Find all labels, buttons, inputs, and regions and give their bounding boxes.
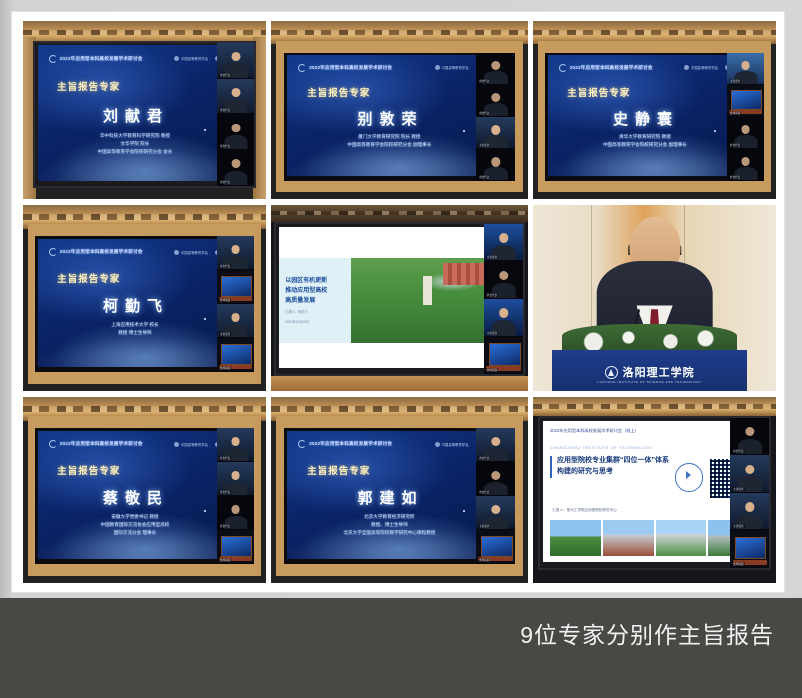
video-participant-rail: 主讲嘉宾 参会代表 主讲嘉宾 会场画面 bbox=[484, 224, 524, 374]
speaker-name: 史静寰 bbox=[548, 108, 744, 129]
swirl-icon bbox=[298, 440, 306, 448]
video-tile: 参会代表 bbox=[217, 462, 254, 496]
logo-left: 中国高等教育学会 bbox=[684, 65, 718, 70]
floor bbox=[23, 570, 266, 583]
projection-screen: 2022年应用型本科高校发展学术研讨会 中国高等教育学会 洛阳理工学院 主旨报告… bbox=[284, 428, 516, 564]
conference-header: 2022年应用型本科高校发展学术研讨会 bbox=[309, 65, 392, 71]
keynote-label: 主旨报告专家 bbox=[57, 271, 120, 285]
video-tile: 参会代表 bbox=[217, 79, 254, 115]
video-tile: 主讲嘉宾 bbox=[484, 224, 524, 262]
conference-room-scene: 2022年应用型本科高校发展学术研讨会（线上） CHANGZHOU INSTIT… bbox=[533, 397, 776, 583]
speaker-affiliation: 华中科技大学教育科学研究院 教授 文华学院 院长 中国高等教育学会院校研究分会 … bbox=[38, 132, 232, 156]
keynote-label: 主旨报告专家 bbox=[57, 463, 120, 477]
university-emblem-icon bbox=[605, 366, 618, 379]
video-tile: 主讲嘉宾 bbox=[476, 117, 515, 149]
projection-screen: 2022年应用型本科高校发展学术研讨会 中国高等教育学会 洛阳理工学院 主旨报告… bbox=[35, 428, 254, 564]
speaker-affiliation: 北京大学教育经济研究所 教授、博士生导师 北京大学全国高等院校教学研究中心课程教… bbox=[287, 513, 492, 537]
video-tile: 会场画面 bbox=[727, 85, 764, 117]
logo-left: 中国高等教育学会 bbox=[174, 442, 208, 447]
floor bbox=[271, 187, 528, 199]
video-tile: 参会代表 bbox=[476, 85, 515, 117]
strip-photo bbox=[656, 520, 707, 557]
floor bbox=[533, 187, 776, 199]
projection-screen: 2022年应用型本科高校发展学术研讨会 中国高等教育学会 洛阳理工学院 主旨报告… bbox=[284, 53, 516, 182]
video-tile: 会场画面 bbox=[484, 337, 524, 375]
conference-header: 2022年应用型本科高校发展学术研讨会 bbox=[60, 249, 143, 255]
video-tile: 参会代表 bbox=[217, 43, 254, 79]
conference-header: 2022年应用型本科高校发展学术研讨会 bbox=[60, 441, 143, 447]
conference-room-scene: · 洛阳理工学院 以园区有机更新 推动应用型高校 高质量发展 汇报人：柯勤飞 2… bbox=[271, 205, 528, 391]
video-participant-rail: 主讲嘉宾 会场画面 参会代表 参会代表 bbox=[727, 53, 764, 182]
video-tile: 会场画面 bbox=[217, 338, 254, 372]
video-participant-rail: 参会代表 参会代表 参会代表 会场画面 bbox=[217, 428, 254, 564]
video-tile: 参会代表 bbox=[217, 428, 254, 462]
qr-slide-title: 应用型院校专业集群“四位一体”体系 构建的研究与思考 bbox=[550, 456, 670, 478]
video-tile: 参会代表 bbox=[730, 418, 769, 456]
video-tile: 主讲嘉宾 bbox=[730, 493, 769, 531]
swirl-icon bbox=[49, 55, 57, 63]
conference-room-scene: 2022年应用型本科高校发展学术研讨会 中国高等教育学会 洛阳理工学院 主旨报告… bbox=[271, 397, 528, 583]
podium-logo: 洛阳理工学院 bbox=[605, 364, 695, 380]
photo-cell-2[interactable]: 2022年应用型本科高校发展学术研讨会 中国高等教育学会 洛阳理工学院 主旨报告… bbox=[271, 21, 528, 199]
video-tile: 参会代表 bbox=[727, 149, 764, 181]
slide-header: 2022年应用型本科高校发展学术研讨会 中国高等教育学会 洛阳理工学院 bbox=[49, 440, 243, 448]
floor bbox=[271, 570, 528, 583]
photo-cell-5[interactable]: · 洛阳理工学院 以园区有机更新 推动应用型高校 高质量发展 汇报人：柯勤飞 2… bbox=[271, 205, 528, 391]
speaker-affiliation: 清华大学教育研究院 教授 中国高等教育学会院校研究分会 副理事长 bbox=[548, 133, 742, 149]
wood-frame: 2022年应用型本科高校发展学术研讨会 中国高等教育学会 洛阳理工学院 主旨报告… bbox=[276, 416, 523, 576]
speaker-affiliation: 厦门大学教育研究院 院长 教授 中国高等教育学会院校研究分会 副理事长 bbox=[287, 133, 492, 149]
conference-room-scene: 2022年应用型本科高校发展学术研讨会 中国高等教育学会 洛阳理工学院 主旨报告… bbox=[271, 21, 528, 199]
logo-left: 中国高等教育学会 bbox=[174, 56, 208, 61]
photo-grid: 2022年应用型本科高校发展学术研讨会 中国高等教育学会 洛阳理工学院 主旨报告… bbox=[23, 21, 775, 583]
speaker-affiliation: 上海应用技术大学 校长 教授 博士生导师 bbox=[38, 321, 232, 337]
swirl-icon bbox=[49, 248, 57, 256]
slide-header: 2022年应用型本科高校发展学术研讨会 中国高等教育学会 洛阳理工学院 bbox=[298, 64, 503, 72]
photo-cell-9[interactable]: 2022年应用型本科高校发展学术研讨会（线上） CHANGZHOU INSTIT… bbox=[533, 397, 776, 583]
video-tile: 参会代表 bbox=[484, 261, 524, 299]
qr-slide-header: 2022年应用型本科高校发展学术研讨会（线上） bbox=[550, 428, 639, 434]
keynote-label: 主旨报告专家 bbox=[307, 463, 370, 477]
qr-slide-byline: 汇报人：常州工学院应用型院校研究中心 bbox=[552, 508, 617, 513]
projection-screen: · 洛阳理工学院 以园区有机更新 推动应用型高校 高质量发展 汇报人：柯勤飞 2… bbox=[274, 222, 526, 376]
mouse-cursor-dot bbox=[204, 129, 206, 131]
strip-photo bbox=[550, 520, 601, 557]
slide-header: 2022年应用型本科高校发展学术研讨会 中国高等教育学会 洛阳理工学院 bbox=[559, 64, 753, 72]
slide-stage: 2022年应用型本科高校发展学术研讨会 中国高等教育学会 洛阳理工学院 主旨报告… bbox=[0, 0, 802, 698]
floor bbox=[23, 378, 266, 391]
caption-band: 9位专家分别作主旨报告 bbox=[0, 598, 802, 698]
video-tile: 参会代表 bbox=[217, 236, 254, 270]
floor bbox=[271, 376, 528, 391]
photo-strip bbox=[550, 520, 759, 557]
campus-date: 2022年10月29日 bbox=[285, 320, 351, 325]
slide-caption: 9位专家分别作主旨报告 bbox=[520, 616, 774, 650]
photo-cell-3[interactable]: 2022年应用型本科高校发展学术研讨会 中国高等教育学会 洛阳理工学院 主旨报告… bbox=[533, 21, 776, 199]
video-tile: 参会代表 bbox=[476, 53, 515, 85]
ceiling bbox=[533, 397, 776, 416]
podium-scene: 洛阳理工学院 LUOYANG INSTITUTE OF SCIENCE AND … bbox=[533, 205, 776, 391]
conference-header: 2022年应用型本科高校发展学术研讨会 bbox=[570, 65, 653, 71]
strip-photo bbox=[603, 520, 654, 557]
speaker-name: 郭建如 bbox=[287, 487, 494, 508]
photo-cell-4[interactable]: 2022年应用型本科高校发展学术研讨会 中国高等教育学会 洛阳理工学院 主旨报告… bbox=[23, 205, 266, 391]
projection-screen: 2022年应用型本科高校发展学术研讨会 中国高等教育学会 洛阳理工学院 主旨报告… bbox=[545, 53, 764, 182]
video-tile: 会场画面 bbox=[217, 530, 254, 564]
keynote-label: 主旨报告专家 bbox=[307, 85, 370, 99]
wood-frame: 2022年应用型本科高校发展学术研讨会 中国高等教育学会 洛阳理工学院 主旨报告… bbox=[28, 224, 261, 384]
wood-frame: 2022年应用型本科高校发展学术研讨会 中国高等教育学会 洛阳理工学院 主旨报告… bbox=[538, 41, 771, 192]
projection-screen: 2022年应用型本科高校发展学术研讨会（线上） CHANGZHOU INSTIT… bbox=[538, 416, 771, 570]
speaker-name: 别敦荣 bbox=[287, 108, 494, 129]
podium-institution-en: LUOYANG INSTITUTE OF SCIENCE AND TECHNOL… bbox=[597, 380, 702, 384]
wood-frame: 2022年应用型本科高校发展学术研讨会 中国高等教育学会 洛阳理工学院 主旨报告… bbox=[276, 41, 523, 192]
campus-slide-text: 以园区有机更新 推动应用型高校 高质量发展 汇报人：柯勤飞 2022年10月29… bbox=[279, 258, 351, 343]
wood-frame: 2022年应用型本科高校发展学术研讨会 中国高等教育学会 洛阳理工学院 主旨报告… bbox=[28, 416, 261, 576]
projection-screen: 2022年应用型本科高校发展学术研讨会 中国高等教育学会 洛阳理工学院 主旨报告… bbox=[35, 236, 254, 372]
video-tile: 参会代表 bbox=[727, 117, 764, 149]
mouse-cursor-dot bbox=[463, 130, 465, 132]
keynote-label: 主旨报告专家 bbox=[567, 85, 630, 99]
conference-room-scene: 2022年应用型本科高校发展学术研讨会 中国高等教育学会 洛阳理工学院 主旨报告… bbox=[23, 205, 266, 391]
play-button-icon bbox=[675, 463, 704, 492]
video-tile: 会场画面 bbox=[217, 270, 254, 304]
video-tile: 参会代表 bbox=[476, 428, 515, 462]
slide-header: 2022年应用型本科高校发展学术研讨会 中国高等教育学会 洛阳理工学院 bbox=[49, 248, 243, 256]
podium: 洛阳理工学院 LUOYANG INSTITUTE OF SCIENCE AND … bbox=[552, 350, 746, 391]
qr-slide-en-header: CHANGZHOU INSTITUTE OF TECHNOLOGY bbox=[550, 445, 653, 450]
speaker-affiliation: 安徽大学党委书记 教授 中国教育国际交流协会应用型高校 国际交流分会 理事长 bbox=[38, 513, 232, 537]
campus-byline: 汇报人：柯勤飞 bbox=[285, 310, 351, 315]
swirl-icon bbox=[559, 64, 567, 72]
video-participant-rail: 参会代表 参会代表 主讲嘉宾 参会代表 bbox=[476, 53, 515, 182]
video-tile: 主讲嘉宾 bbox=[484, 299, 524, 337]
ceiling bbox=[271, 205, 528, 222]
video-tile: 参会代表 bbox=[217, 496, 254, 530]
photo-panel: 2022年应用型本科高校发展学术研讨会 中国高等教育学会 洛阳理工学院 主旨报告… bbox=[12, 12, 784, 592]
logo-left: 中国高等教育学会 bbox=[435, 442, 469, 447]
video-tile: 参会代表 bbox=[217, 114, 254, 150]
podium-institution-cn: 洛阳理工学院 bbox=[623, 364, 695, 380]
conference-room-scene: 2022年应用型本科高校发展学术研讨会 中国高等教育学会 洛阳理工学院 主旨报告… bbox=[533, 21, 776, 199]
photo-cell-8[interactable]: 2022年应用型本科高校发展学术研讨会 中国高等教育学会 洛阳理工学院 主旨报告… bbox=[271, 397, 528, 583]
video-tile: 参会代表 bbox=[476, 462, 515, 496]
slide-topbar-text: · bbox=[284, 235, 285, 239]
video-tile: 主讲嘉宾 bbox=[727, 53, 764, 85]
slide-header: 2022年应用型本科高校发展学术研讨会 中国高等教育学会 洛阳理工学院 bbox=[298, 440, 503, 448]
speaker-name: 蔡敬民 bbox=[38, 487, 234, 508]
photo-cell-6[interactable]: 洛阳理工学院 LUOYANG INSTITUTE OF SCIENCE AND … bbox=[533, 205, 776, 391]
slide-header: 2022年应用型本科高校发展学术研讨会 中国高等教育学会 洛阳理工学院 bbox=[49, 55, 243, 63]
video-tile: 主讲嘉宾 bbox=[476, 496, 515, 530]
speaker-name: 刘献君 bbox=[38, 105, 234, 126]
video-participant-rail: 参会代表 参会代表 参会代表 参会代表 bbox=[217, 43, 254, 187]
keynote-label: 主旨报告专家 bbox=[57, 79, 120, 93]
video-tile: 会场画面 bbox=[730, 530, 769, 568]
video-participant-rail: 参会代表 参会代表 主讲嘉宾 会场画面 bbox=[476, 428, 515, 564]
photo-cell-7[interactable]: 2022年应用型本科高校发展学术研讨会 中国高等教育学会 洛阳理工学院 主旨报告… bbox=[23, 397, 266, 583]
floor bbox=[23, 187, 266, 199]
photo-cell-1[interactable]: 2022年应用型本科高校发展学术研讨会 中国高等教育学会 洛阳理工学院 主旨报告… bbox=[23, 21, 266, 199]
logo-left: 中国高等教育学会 bbox=[174, 250, 208, 255]
floor bbox=[533, 570, 776, 583]
conference-header: 2022年应用型本科高校发展学术研讨会 bbox=[60, 56, 143, 62]
video-tile: 主讲嘉宾 bbox=[730, 455, 769, 493]
projection-screen: 2022年应用型本科高校发展学术研讨会 中国高等教育学会 洛阳理工学院 主旨报告… bbox=[33, 41, 257, 189]
video-tile: 参会代表 bbox=[217, 150, 254, 186]
speaker-name: 柯勤飞 bbox=[38, 295, 234, 316]
logo-left: 中国高等教育学会 bbox=[435, 65, 469, 70]
conference-room-scene: 2022年应用型本科高校发展学术研讨会 中国高等教育学会 洛阳理工学院 主旨报告… bbox=[23, 21, 266, 199]
video-participant-rail: 参会代表 主讲嘉宾 主讲嘉宾 会场画面 bbox=[730, 418, 769, 568]
swirl-icon bbox=[49, 440, 57, 448]
swirl-icon bbox=[298, 64, 306, 72]
video-tile: 主讲嘉宾 bbox=[217, 304, 254, 338]
video-tile: 会场画面 bbox=[476, 530, 515, 564]
conference-header: 2022年应用型本科高校发展学术研讨会 bbox=[309, 441, 392, 447]
video-tile: 参会代表 bbox=[476, 149, 515, 181]
video-participant-rail: 参会代表 会场画面 主讲嘉宾 会场画面 bbox=[217, 236, 254, 372]
conference-room-scene: 2022年应用型本科高校发展学术研讨会 中国高等教育学会 洛阳理工学院 主旨报告… bbox=[23, 397, 266, 583]
